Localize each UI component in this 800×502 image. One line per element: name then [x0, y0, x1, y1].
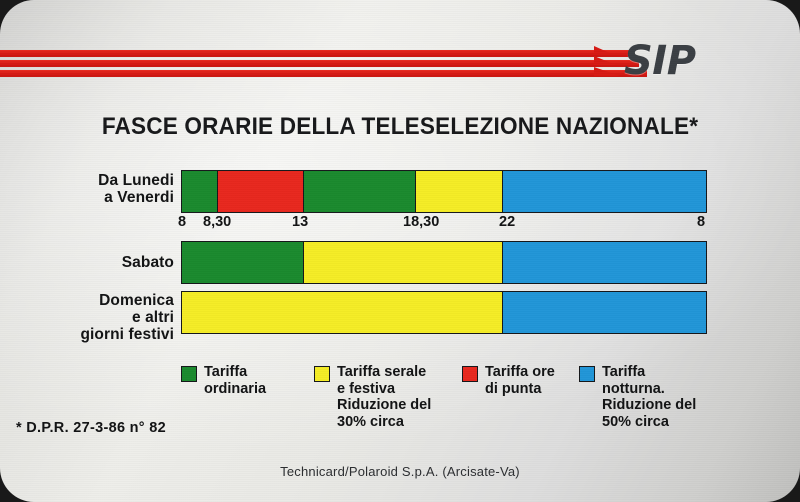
segment-ordinaria — [303, 171, 416, 212]
decree-footnote: * D.P.R. 27-3-86 n° 82 — [16, 420, 166, 436]
bar-lun-ven — [181, 170, 707, 213]
legend-swatch-blue-icon — [579, 366, 595, 382]
segment-serale — [303, 242, 502, 283]
segment-punta — [217, 171, 303, 212]
legend-item-ordinaria: Tariffa ordinaria — [181, 364, 311, 397]
legend-swatch-green-icon — [181, 366, 197, 382]
bar-domenica — [181, 291, 707, 334]
manufacturer-credit: Technicard/Polaroid S.p.A. (Arcisate-Va) — [0, 464, 800, 479]
legend-label: Tariffa ordinaria — [204, 364, 266, 397]
row-label-sabato: Sabato — [40, 254, 174, 271]
legend-swatch-red-icon — [462, 366, 478, 382]
chart-legend: Tariffa ordinaria Tariffa serale e festi… — [181, 364, 741, 438]
row-label-lun-ven: Da Lunedia Venerdi — [40, 172, 174, 206]
segment-serale — [415, 171, 501, 212]
legend-label: Tariffa serale e festiva Riduzione del 3… — [337, 364, 431, 430]
segment-serale — [182, 292, 502, 333]
legend-item-punta: Tariffa ore di punta — [462, 364, 582, 397]
bar-sabato — [181, 241, 707, 284]
phone-card: SIP FASCE ORARIE DELLA TELESELEZIONE NAZ… — [0, 0, 800, 502]
legend-item-serale: Tariffa serale e festiva Riduzione del 3… — [314, 364, 464, 430]
segment-notturna — [502, 171, 706, 212]
segment-notturna — [502, 292, 706, 333]
tick-label: 8,30 — [203, 214, 231, 230]
legend-swatch-yellow-icon — [314, 366, 330, 382]
tick-label: 22 — [499, 214, 515, 230]
segment-notturna — [502, 242, 706, 283]
tick-label: 8 — [697, 214, 705, 230]
tick-label: 18,30 — [403, 214, 439, 230]
legend-label: Tariffa ore di punta — [485, 364, 555, 397]
legend-item-notturna: Tariffa notturna. Riduzione del 50% circ… — [579, 364, 739, 430]
time-axis: 8 8,30 13 18,30 22 8 — [181, 214, 707, 232]
legend-label: Tariffa notturna. Riduzione del 50% circ… — [602, 364, 696, 430]
tick-label: 8 — [178, 214, 186, 230]
segment-ordinaria — [182, 171, 217, 212]
tick-label: 13 — [292, 214, 308, 230]
row-label-domenica: Domenicae altrigiorni festivi — [26, 292, 174, 343]
segment-ordinaria — [182, 242, 303, 283]
